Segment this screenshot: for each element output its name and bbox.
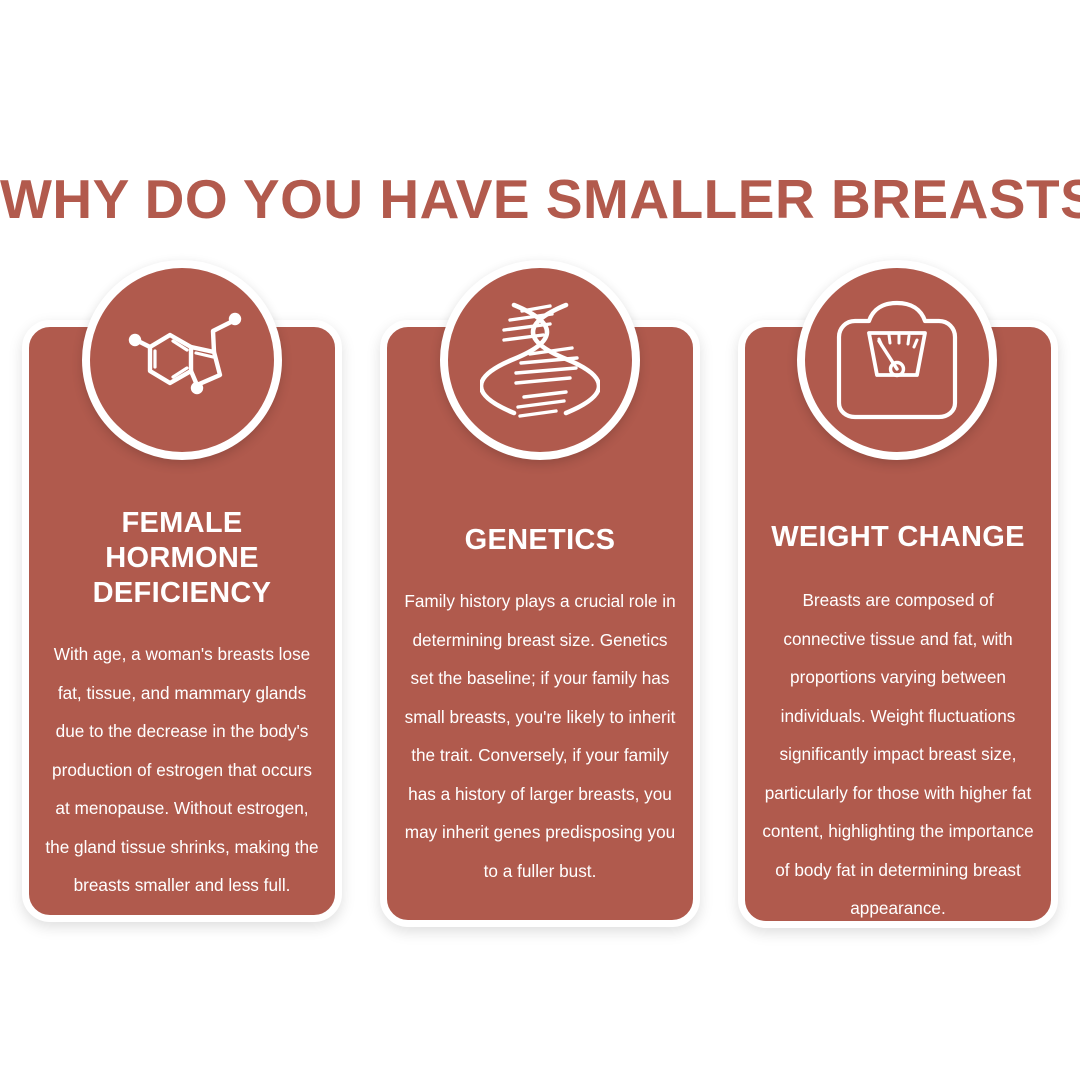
cards-row: FEMALE HORMONE DEFICIENCY With age, a wo… (0, 0, 1080, 1080)
card-body: Family history plays a crucial role in d… (401, 582, 679, 890)
card-body: With age, a woman's breasts lose fat, ti… (43, 635, 321, 905)
card-heading: GENETICS (401, 523, 679, 558)
infographic-canvas: WHY DO YOU HAVE SMALLER BREASTS? FEMALE … (0, 0, 1080, 1080)
card-body: Breasts are composed of connective tissu… (759, 581, 1037, 928)
card-heading: FEMALE HORMONE DEFICIENCY (43, 506, 321, 611)
molecule-icon-badge (82, 260, 282, 460)
weight-scale-icon-badge (797, 260, 997, 460)
molecule-icon (121, 299, 243, 421)
weight-scale-icon (833, 299, 961, 421)
dna-helix-icon (480, 297, 600, 423)
card-heading: WEIGHT CHANGE (759, 520, 1037, 555)
dna-helix-icon-badge (440, 260, 640, 460)
